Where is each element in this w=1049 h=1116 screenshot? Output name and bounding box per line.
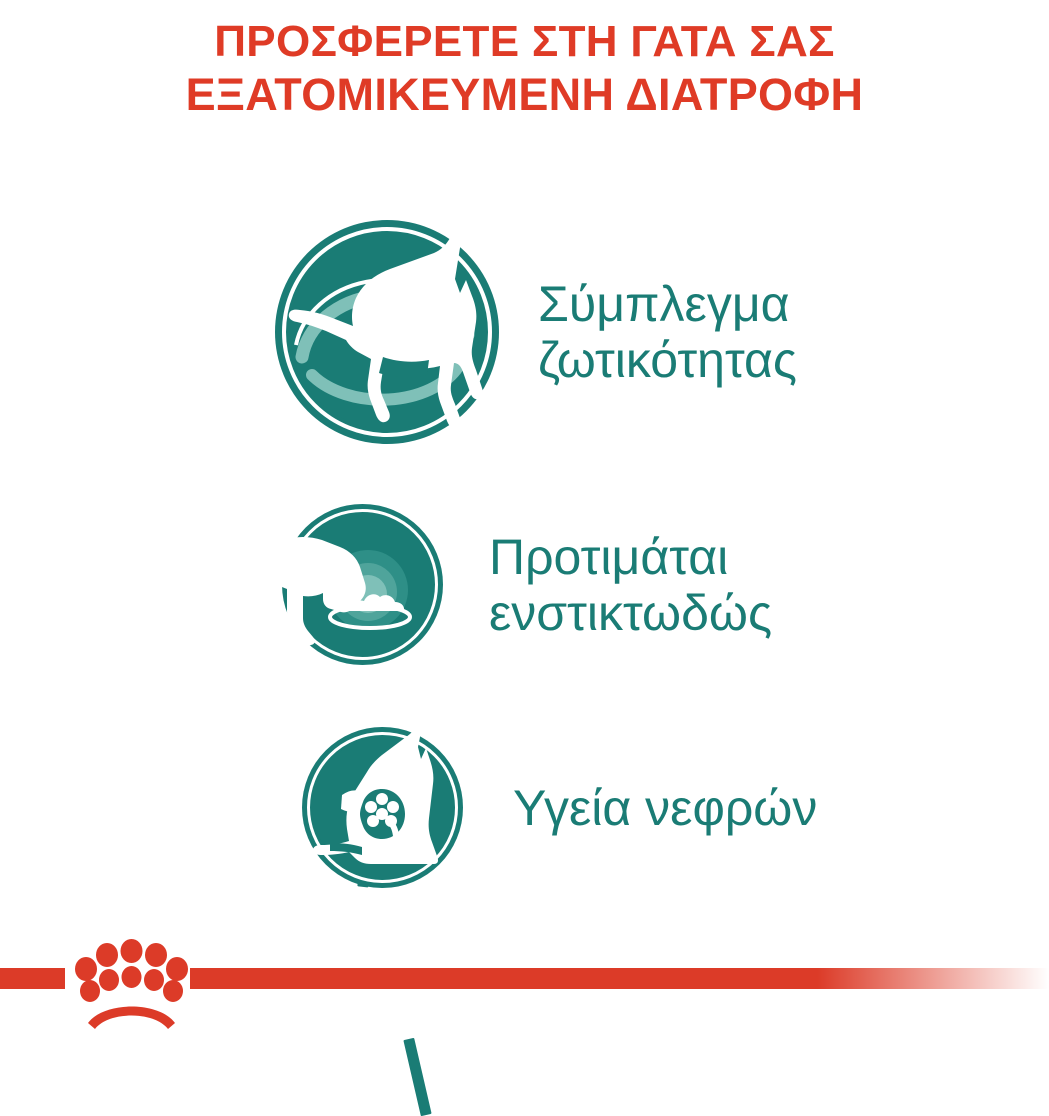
poster-canvas: ΠΡΟΣΦΕΡΕΤΕ ΣΤΗ ΓΑΤΑ ΣΑΣ ΕΞΑΤΟΜΙΚΕΥΜΕΝΗ Δ… (0, 0, 1049, 1049)
feature-label-kidney-health: Υγεία νεφρών (513, 780, 817, 836)
walking-cat-icon (272, 217, 502, 447)
brand-footer (0, 939, 1049, 1049)
page-title: ΠΡΟΣΦΕΡΕΤΕ ΣΤΗ ΓΑΤΑ ΣΑΣ ΕΞΑΤΟΜΙΚΕΥΜΕΝΗ Δ… (0, 16, 1049, 121)
cat-kidney-icon (300, 725, 465, 890)
headline-line-1: ΠΡΟΣΦΕΡΕΤΕ ΣΤΗ ΓΑΤΑ ΣΑΣ (0, 16, 1049, 68)
feature-label-vitality-complex: Σύμπλεγμα ζωτικότητας (538, 276, 797, 388)
feature-list: Σύμπλεγμα ζωτικότητας (0, 150, 1049, 940)
feature-item-vitality-complex[interactable]: Σύμπλεγμα ζωτικότητας (272, 217, 797, 447)
footer-rule-right (190, 968, 1049, 989)
feature-item-instinctively-preferred[interactable]: Προτιμάται ενστικτωδώς (280, 502, 772, 667)
footer-rule-left (0, 968, 65, 989)
feature-item-kidney-health[interactable]: Υγεία νεφρών (300, 725, 817, 890)
headline-line-2: ΕΞΑΤΟΜΙΚΕΥΜΕΝΗ ΔΙΑΤΡΟΦΗ (0, 68, 1049, 121)
royal-canin-crown-logo (74, 939, 189, 1034)
feature-label-instinctively-preferred: Προτιμάται ενστικτωδώς (489, 529, 772, 641)
cat-eating-bowl-icon (280, 502, 445, 667)
connector-dash-bottom (403, 1038, 431, 1116)
